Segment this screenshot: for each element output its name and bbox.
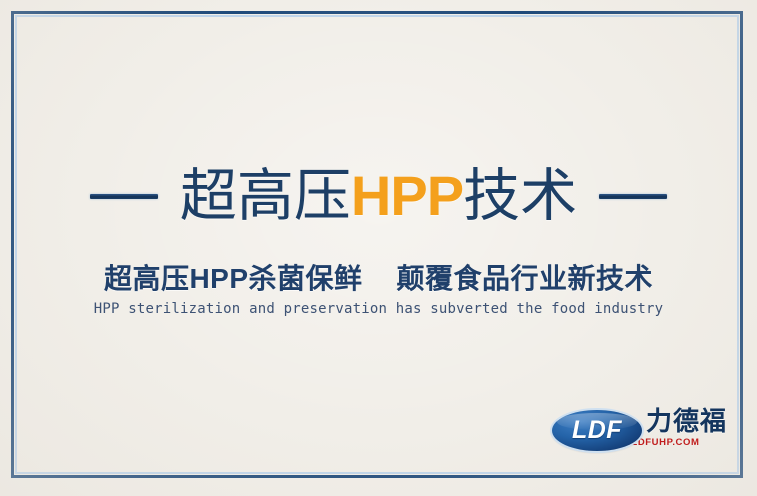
page-title: 超高压HPP技术 [180,168,577,225]
title-part-2: 技术 [463,164,577,228]
logo-brand-name: 力德福 [646,408,727,435]
logo-text-block: 力德福 WWW.LDFUHP.COM [646,408,727,448]
subtitle-right: 颠覆食品行业新技术 [397,263,654,294]
brand-logo: LDF 力德福 WWW.LDFUHP.COM [552,408,730,464]
subtitle: 超高压HPP杀菌保鲜颠覆食品行业新技术 [0,257,757,297]
subtitle-left: 超高压HPP杀菌保鲜 [104,263,363,294]
poster-canvas: 超高压HPP技术 超高压HPP杀菌保鲜颠覆食品行业新技术 HPP sterili… [0,0,757,496]
title-dash-left-icon [90,194,158,199]
logo-mark: LDF [552,408,644,453]
logo-mark-text: LDF [552,410,642,451]
title-part-1: 超高压 [180,164,351,228]
english-tagline: HPP sterilization and preservation has s… [0,301,757,317]
title-dash-right-icon [599,194,667,199]
title-highlight-hpp: HPP [351,164,463,227]
main-title-row: 超高压HPP技术 [0,168,757,225]
poster-content: 超高压HPP技术 超高压HPP杀菌保鲜颠覆食品行业新技术 HPP sterili… [0,0,757,496]
